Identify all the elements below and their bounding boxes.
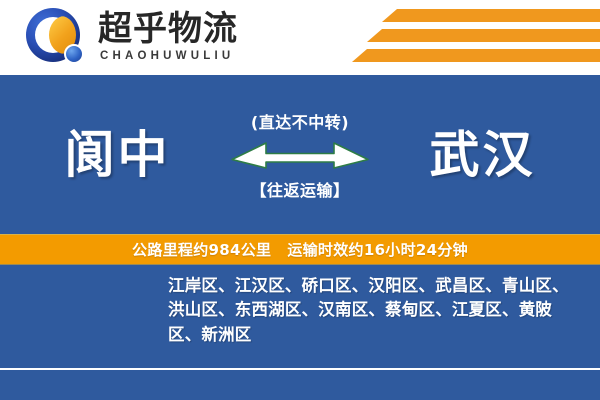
route-note-top: (直达不中转): [251, 109, 349, 133]
duration-label: 运输时效约16小时24分钟: [287, 241, 468, 259]
brand-logo: 超乎物流 CHAOHUWULIU: [26, 6, 238, 68]
brand-name-block: 超乎物流 CHAOHUWULIU: [98, 12, 238, 62]
stripe-2: [367, 29, 600, 42]
circle-moon-logo-icon: [26, 6, 88, 68]
coverage-section: 江岸区、江汉区、硚口区、汉阳区、武昌区、青山区、洪山区、东西湖区、汉南区、蔡甸区…: [0, 265, 600, 400]
route-info-bar: 公路里程约984公里运输时效约16小时24分钟: [0, 234, 600, 265]
brand-name-cn: 超乎物流: [98, 12, 238, 48]
logo-accent-dot: [64, 44, 84, 64]
route-arrow-block: (直达不中转) 【往返运输】: [208, 109, 393, 201]
double-headed-arrow-icon: [230, 137, 370, 171]
distance-label: 公路里程约984公里: [132, 241, 271, 259]
stripe-1: [382, 9, 600, 22]
stripe-3: [352, 49, 600, 62]
bottom-divider: [0, 368, 600, 370]
banner-header: 超乎物流 CHAOHUWULIU: [0, 0, 600, 75]
info-bar-content: 公路里程约984公里运输时效约16小时24分钟: [132, 239, 468, 260]
coverage-areas-list: 江岸区、江汉区、硚口区、汉阳区、武昌区、青山区、洪山区、东西湖区、汉南区、蔡甸区…: [168, 274, 582, 347]
destination-city: 武汉: [393, 130, 573, 180]
origin-city: 阆中: [28, 130, 208, 180]
route-note-bottom: 【往返运输】: [250, 177, 349, 201]
route-section: 阆中 (直达不中转) 【往返运输】 武汉: [0, 75, 600, 234]
brand-name-en: CHAOHUWULIU: [100, 50, 238, 62]
orange-speed-stripes-icon: [350, 9, 600, 67]
logistics-route-banner: 超乎物流 CHAOHUWULIU 阆中 (直达不中转) 【往返运输】 武汉 公: [0, 0, 600, 400]
